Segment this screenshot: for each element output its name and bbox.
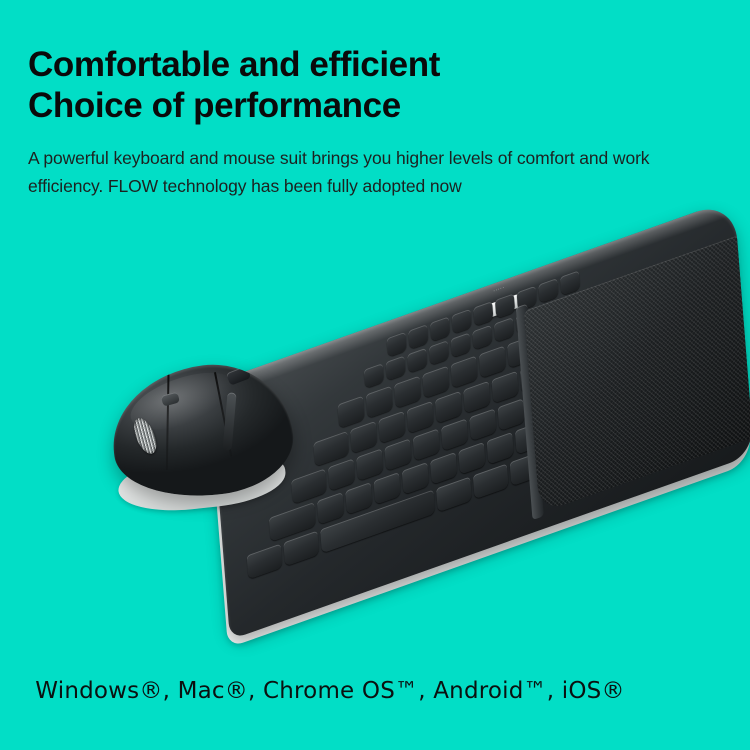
- keyboard-key[interactable]: [408, 324, 428, 349]
- keyboard-brand-logo: ·····: [493, 284, 505, 295]
- keyboard-key[interactable]: [469, 408, 496, 441]
- keyboard-key[interactable]: [430, 316, 450, 341]
- keyboard-key[interactable]: [356, 448, 383, 481]
- keyboard-key[interactable]: [413, 428, 440, 461]
- keyboard-key[interactable]: [373, 472, 400, 505]
- keyboard-key[interactable]: [386, 332, 406, 357]
- keyboard-key[interactable]: [364, 363, 384, 388]
- keyboard-key[interactable]: [463, 381, 490, 414]
- keyboard-key[interactable]: [337, 396, 364, 429]
- mouse-top-button: [226, 366, 251, 386]
- description-text: A powerful keyboard and mouse suit bring…: [28, 144, 688, 200]
- keyboard-key[interactable]: [384, 438, 411, 471]
- keyboard-key[interactable]: [435, 391, 462, 424]
- headline-block: Comfortable and efficient Choice of perf…: [28, 44, 728, 200]
- keyboard-key[interactable]: [473, 301, 493, 326]
- keyboard-key[interactable]: [247, 544, 283, 580]
- wireless-keyboard: ·····: [228, 278, 750, 648]
- keyboard-key[interactable]: [495, 293, 515, 318]
- keyboard-key[interactable]: [402, 462, 429, 495]
- wireless-mouse: [110, 360, 300, 530]
- keyboard-key[interactable]: [491, 371, 518, 404]
- keyboard-key[interactable]: [441, 418, 468, 451]
- product-image: ·····: [0, 270, 750, 660]
- keyboard-key[interactable]: [430, 452, 457, 485]
- keyboard-key[interactable]: [328, 458, 355, 491]
- keyboard-key[interactable]: [345, 482, 372, 515]
- promo-banner: Comfortable and efficient Choice of perf…: [0, 0, 750, 750]
- keyboard-key[interactable]: [452, 309, 472, 334]
- keyboard-key[interactable]: [407, 401, 434, 434]
- compatibility-line: Windows®, Mac®, Chrome OS™, Android™, iO…: [0, 678, 660, 704]
- keyboard-key[interactable]: [378, 411, 405, 444]
- keyboard-key[interactable]: [487, 432, 514, 465]
- headline-line-2: Choice of performance: [28, 85, 728, 126]
- headline-line-1: Comfortable and efficient: [28, 44, 728, 85]
- keyboard-key[interactable]: [350, 421, 377, 454]
- keyboard-key[interactable]: [317, 492, 344, 525]
- keyboard-key[interactable]: [498, 398, 525, 431]
- keyboard-key[interactable]: [458, 442, 485, 475]
